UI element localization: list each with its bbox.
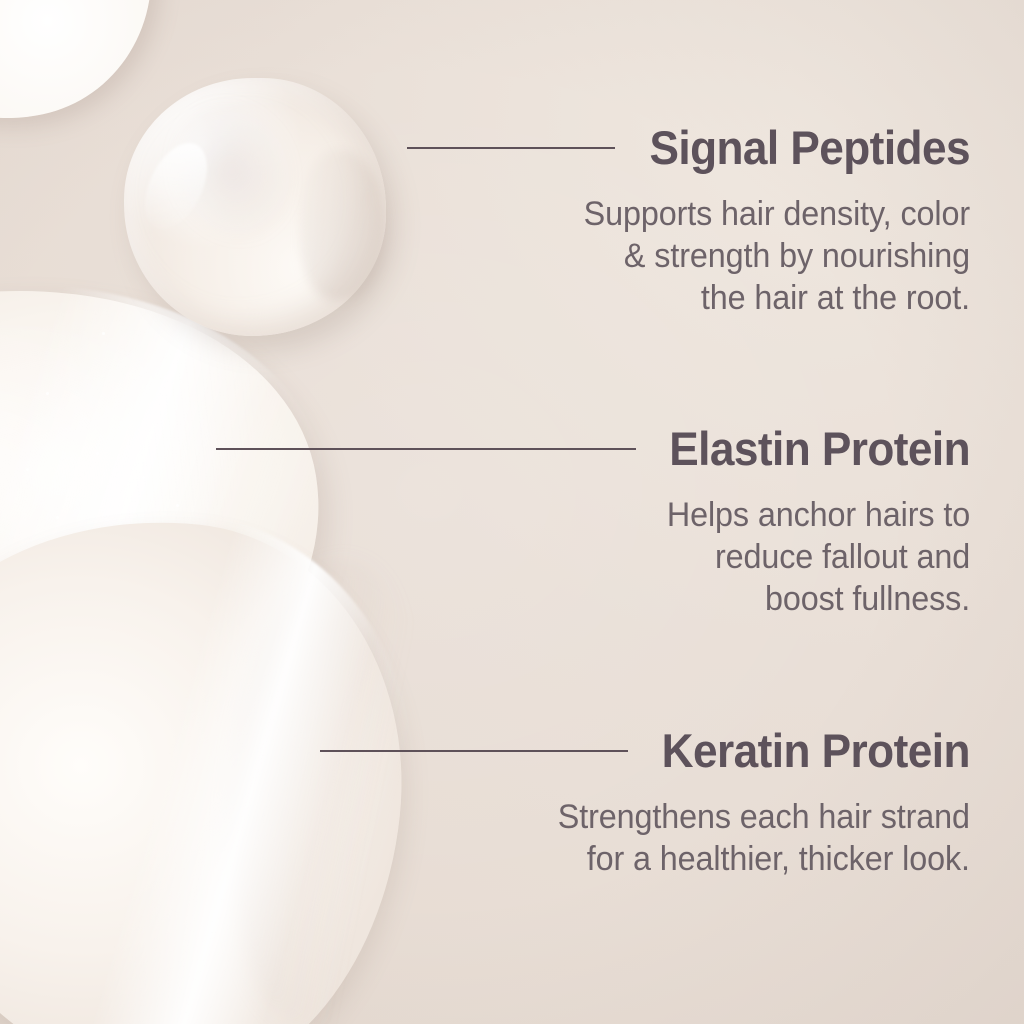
callout-heading-row: Signal Peptides [407,124,970,171]
callout-title: Keratin Protein [662,727,970,774]
callout-description: Supports hair density, color & strength … [435,193,970,319]
callout-title: Signal Peptides [649,124,970,171]
callout-list: Signal Peptides Supports hair density, c… [0,0,1024,1024]
leader-line-icon [320,750,628,752]
callout-heading-row: Keratin Protein [320,727,970,774]
callout-keratin-protein: Keratin Protein Strengthens each hair st… [320,727,970,880]
callout-description: Helps anchor hairs to reduce fallout and… [254,494,970,620]
callout-title: Elastin Protein [669,425,970,472]
leader-line-icon [216,448,636,450]
infographic-canvas: Signal Peptides Supports hair density, c… [0,0,1024,1024]
callout-description: Strengthens each hair strand for a healt… [353,796,970,880]
callout-heading-row: Elastin Protein [216,425,970,472]
callout-elastin-protein: Elastin Protein Helps anchor hairs to re… [216,425,970,620]
leader-line-icon [407,147,615,149]
callout-signal-peptides: Signal Peptides Supports hair density, c… [407,124,970,319]
